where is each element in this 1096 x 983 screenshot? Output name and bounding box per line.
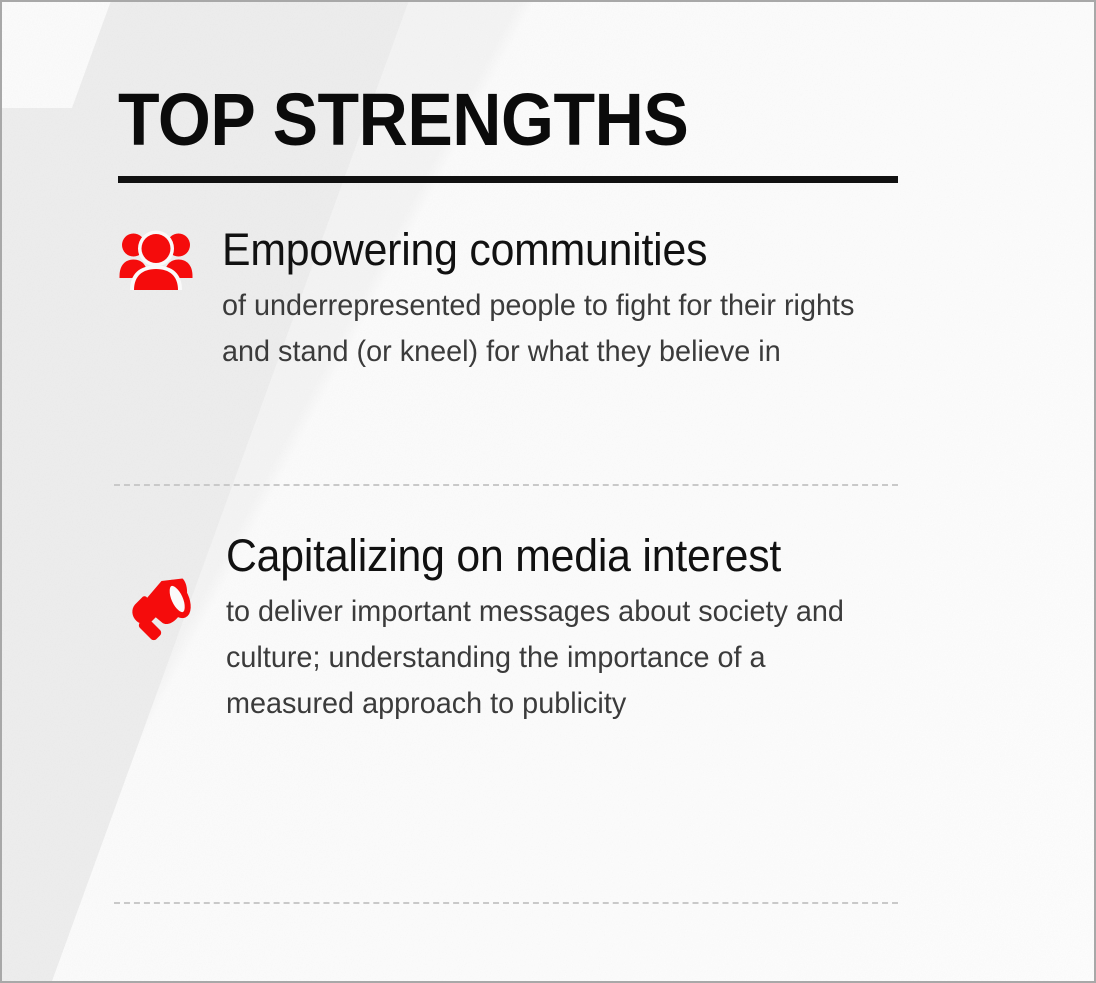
strength-2-heading: Capitalizing on media interest [226, 530, 868, 581]
strength-1-body: of underrepresented people to fight for … [222, 283, 875, 375]
title-underline-rule [118, 176, 898, 183]
strength-item-1: Empowering communities of underrepresent… [118, 224, 902, 375]
bullhorn-icon [122, 572, 194, 642]
strength-item-2: Capitalizing on media interest to delive… [118, 530, 902, 727]
top-strengths-card: TOP STRENGTHS [0, 0, 1096, 983]
title-block: TOP STRENGTHS [118, 80, 908, 183]
strength-1-text-cell: Empowering communities of underrepresent… [222, 224, 902, 375]
strength-1-heading: Empowering communities [222, 224, 868, 275]
strength-2-text-cell: Capitalizing on media interest to delive… [226, 530, 902, 727]
divider-after-strength-1 [114, 484, 898, 486]
divider-after-strength-2 [114, 902, 898, 904]
group-people-icon [118, 228, 194, 290]
page-title: TOP STRENGTHS [118, 80, 845, 160]
strength-2-body: to deliver important messages about soci… [226, 589, 875, 727]
strength-1-icon-cell [118, 224, 222, 290]
strength-2-icon-cell [118, 530, 226, 642]
